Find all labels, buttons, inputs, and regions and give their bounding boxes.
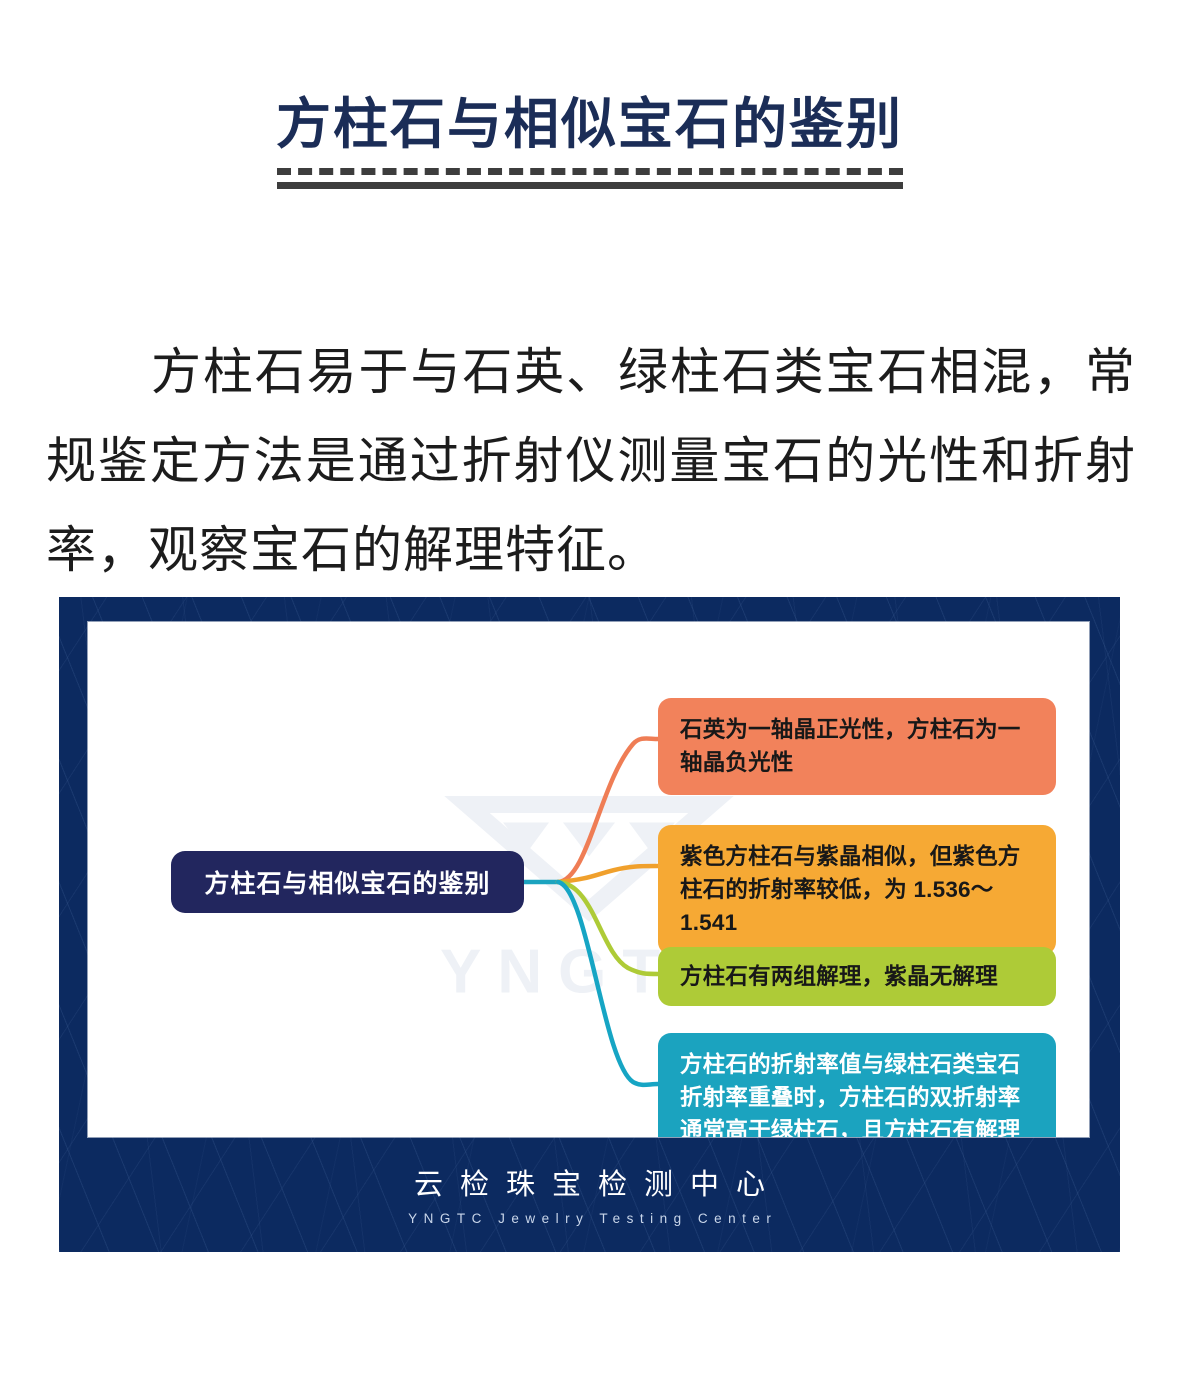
mindmap-node-3[interactable]: 方柱石的折射率值与绿柱石类宝石折射率重叠时，方柱石的双折射率通常高于绿柱石，且方…	[658, 1033, 1056, 1137]
connector-node-1	[558, 866, 658, 882]
footer-brand: 云检珠宝检测中心 YNGTC Jewelry Testing Center	[59, 1161, 1120, 1226]
mindmap-node-0-label: 石英为一轴晶正光性，方柱石为一轴晶负光性	[680, 717, 1021, 775]
connector-node-2	[558, 882, 658, 974]
mindmap-node-2[interactable]: 方柱石有两组解理，紫晶无解理	[658, 947, 1056, 1006]
mindmap-node-0[interactable]: 石英为一轴晶正光性，方柱石为一轴晶负光性	[658, 698, 1056, 795]
connector-node-3	[558, 882, 658, 1085]
mindmap-canvas: YNGTC 方柱石与相似宝石的鉴别 石英为一轴晶正光性，方柱石为一轴晶负光性 紫…	[88, 622, 1089, 1137]
mindmap-node-2-label: 方柱石有两组解理，紫晶无解理	[680, 964, 998, 989]
mindmap-node-1[interactable]: 紫色方柱石与紫晶相似，但紫色方柱石的折射率较低，为 1.536～1.541	[658, 825, 1056, 955]
brand-name-cn: 云检珠宝检测中心	[59, 1161, 1120, 1203]
title-solid-rule	[277, 182, 903, 189]
connector-node-0	[558, 738, 658, 882]
body-paragraph: 方柱石易于与石英、绿柱石类宝石相混，常规鉴定方法是通过折射仪测量宝石的光性和折射…	[46, 328, 1136, 595]
page-title: 方柱石与相似宝石的鉴别	[0, 96, 1179, 154]
mindmap-root-node[interactable]: 方柱石与相似宝石的鉴别	[171, 851, 524, 913]
brand-name-en: YNGTC Jewelry Testing Center	[59, 1211, 1120, 1226]
mindmap-node-1-label: 紫色方柱石与紫晶相似，但紫色方柱石的折射率较低，为 1.536～1.541	[680, 844, 1021, 935]
title-block: 方柱石与相似宝石的鉴别	[0, 96, 1179, 189]
diagram-panel: YNGTC 方柱石与相似宝石的鉴别 石英为一轴晶正光性，方柱石为一轴晶负光性 紫…	[59, 597, 1120, 1252]
mindmap-root-label: 方柱石与相似宝石的鉴别	[204, 864, 490, 900]
title-underline	[277, 168, 903, 189]
mindmap-node-3-label: 方柱石的折射率值与绿柱石类宝石折射率重叠时，方柱石的双折射率通常高于绿柱石，且方…	[680, 1052, 1021, 1137]
title-dashed-rule	[277, 168, 903, 175]
